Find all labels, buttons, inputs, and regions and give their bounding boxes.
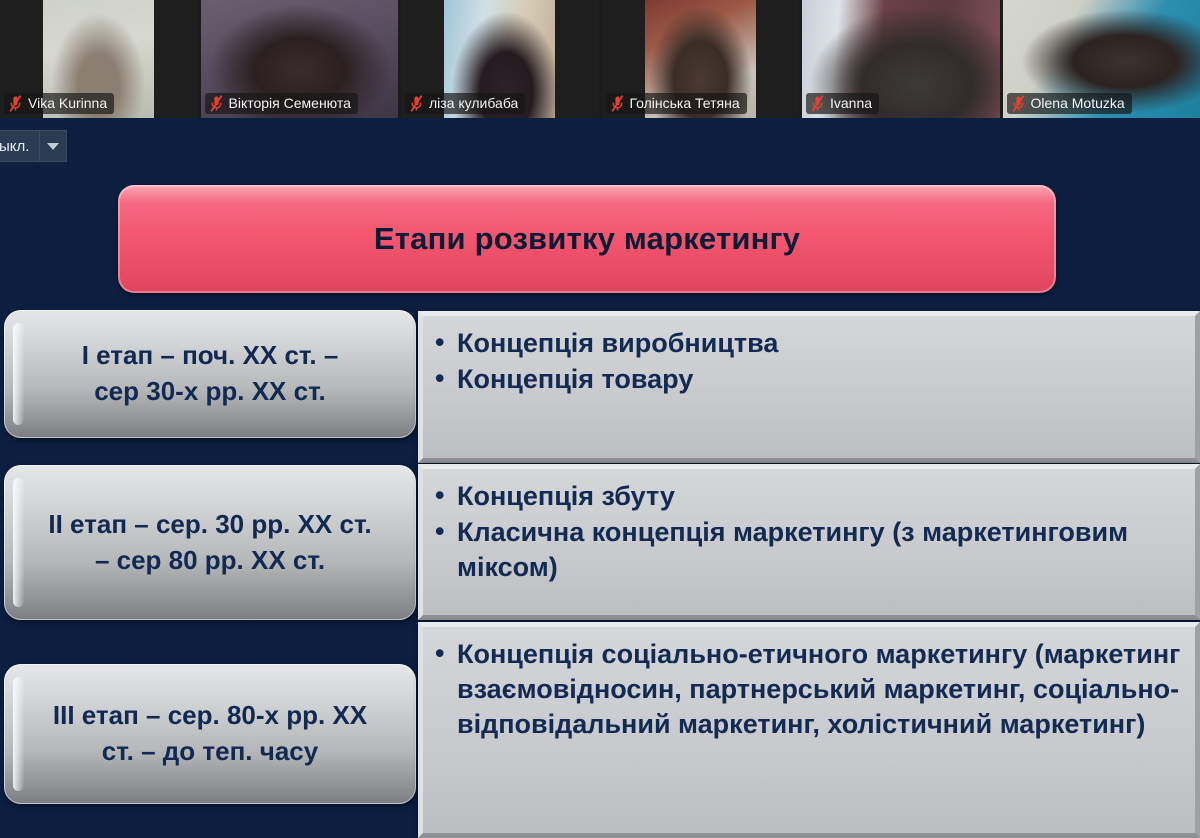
participant-nameplate: Голінська Тетяна: [606, 93, 747, 114]
bullet-list-2: Концепція збуту Класична концепція марке…: [423, 469, 1195, 596]
participant-nameplate: Olena Motuzka: [1007, 93, 1132, 114]
chevron-down-icon: [47, 143, 59, 150]
bullet-list-1: Концепція виробництва Концепція товару: [423, 316, 1195, 408]
participant-name: Ivanna: [830, 95, 872, 112]
list-item: Концепція збуту: [433, 479, 1181, 514]
participant-nameplate: Вікторія Семенюта: [205, 93, 358, 114]
list-item: Концепція товару: [433, 362, 1181, 397]
video-tile[interactable]: Ivanna: [802, 0, 1000, 118]
stage-label-box-1: I етап – поч. XX ст. – сер 30-х рр. XX с…: [4, 310, 416, 438]
audio-channel-value[interactable]: нала: выкл.: [0, 130, 39, 162]
video-tile[interactable]: Голінська Тетяна: [602, 0, 800, 118]
mic-muted-icon: [1011, 95, 1026, 112]
participant-nameplate: ліза кулибаба: [405, 93, 525, 114]
stage-content-box-3: Концепція соціально-етичного маркетингу …: [418, 622, 1200, 838]
video-tile[interactable]: Olena Motuzka: [1003, 0, 1200, 118]
participant-nameplate: Ivanna: [806, 93, 879, 114]
stage-label-2: II етап – сер. 30 рр. XX ст. – сер 80 рр…: [30, 501, 389, 585]
screen: Vika Kurinna Вікторія Семенюта: [0, 0, 1200, 838]
mic-muted-icon: [209, 95, 224, 112]
video-tile[interactable]: Вікторія Семенюта: [201, 0, 399, 118]
slide-title: Етапи розвитку маркетингу: [374, 221, 800, 257]
video-tile[interactable]: Vika Kurinna: [0, 0, 198, 118]
stage-content-box-2: Концепція збуту Класична концепція марке…: [418, 464, 1200, 620]
slide-title-banner: Етапи розвитку маркетингу: [118, 185, 1056, 293]
audio-channel-dropdown-button[interactable]: [39, 130, 67, 162]
participant-name: Olena Motuzka: [1031, 95, 1125, 112]
list-item: Концепція соціально-етичного маркетингу …: [433, 637, 1181, 742]
participant-nameplate: Vika Kurinna: [4, 93, 114, 114]
participant-name: ліза кулибаба: [429, 95, 518, 112]
stage-label-1: I етап – поч. XX ст. – сер 30-х рр. XX с…: [64, 332, 357, 416]
video-tile[interactable]: ліза кулибаба: [401, 0, 599, 118]
stage-label-box-2: II етап – сер. 30 рр. XX ст. – сер 80 рр…: [4, 465, 416, 620]
participant-name: Вікторія Семенюта: [229, 95, 351, 112]
mic-muted-icon: [610, 95, 625, 112]
presentation-slide: Етапи розвитку маркетингу I етап – поч. …: [0, 168, 1200, 838]
stage-content-box-1: Концепція виробництва Концепція товару: [418, 311, 1200, 463]
participant-name: Голінська Тетяна: [630, 95, 740, 112]
bullet-list-3: Концепція соціально-етичного маркетингу …: [423, 627, 1195, 753]
meeting-toolbar: нала: выкл.: [0, 118, 1200, 168]
list-item: Класична концепція маркетингу (з маркети…: [433, 515, 1181, 585]
participant-name: Vika Kurinna: [28, 95, 107, 112]
mic-muted-icon: [409, 95, 424, 112]
mic-muted-icon: [8, 95, 23, 112]
stage-label-3: III етап – сер. 80-х рр. XX ст. – до теп…: [35, 692, 385, 776]
mic-muted-icon: [810, 95, 825, 112]
list-item: Концепція виробництва: [433, 326, 1181, 361]
video-participant-strip: Vika Kurinna Вікторія Семенюта: [0, 0, 1200, 118]
audio-channel-select[interactable]: нала: выкл.: [0, 130, 67, 162]
stage-label-box-3: III етап – сер. 80-х рр. XX ст. – до теп…: [4, 664, 416, 804]
